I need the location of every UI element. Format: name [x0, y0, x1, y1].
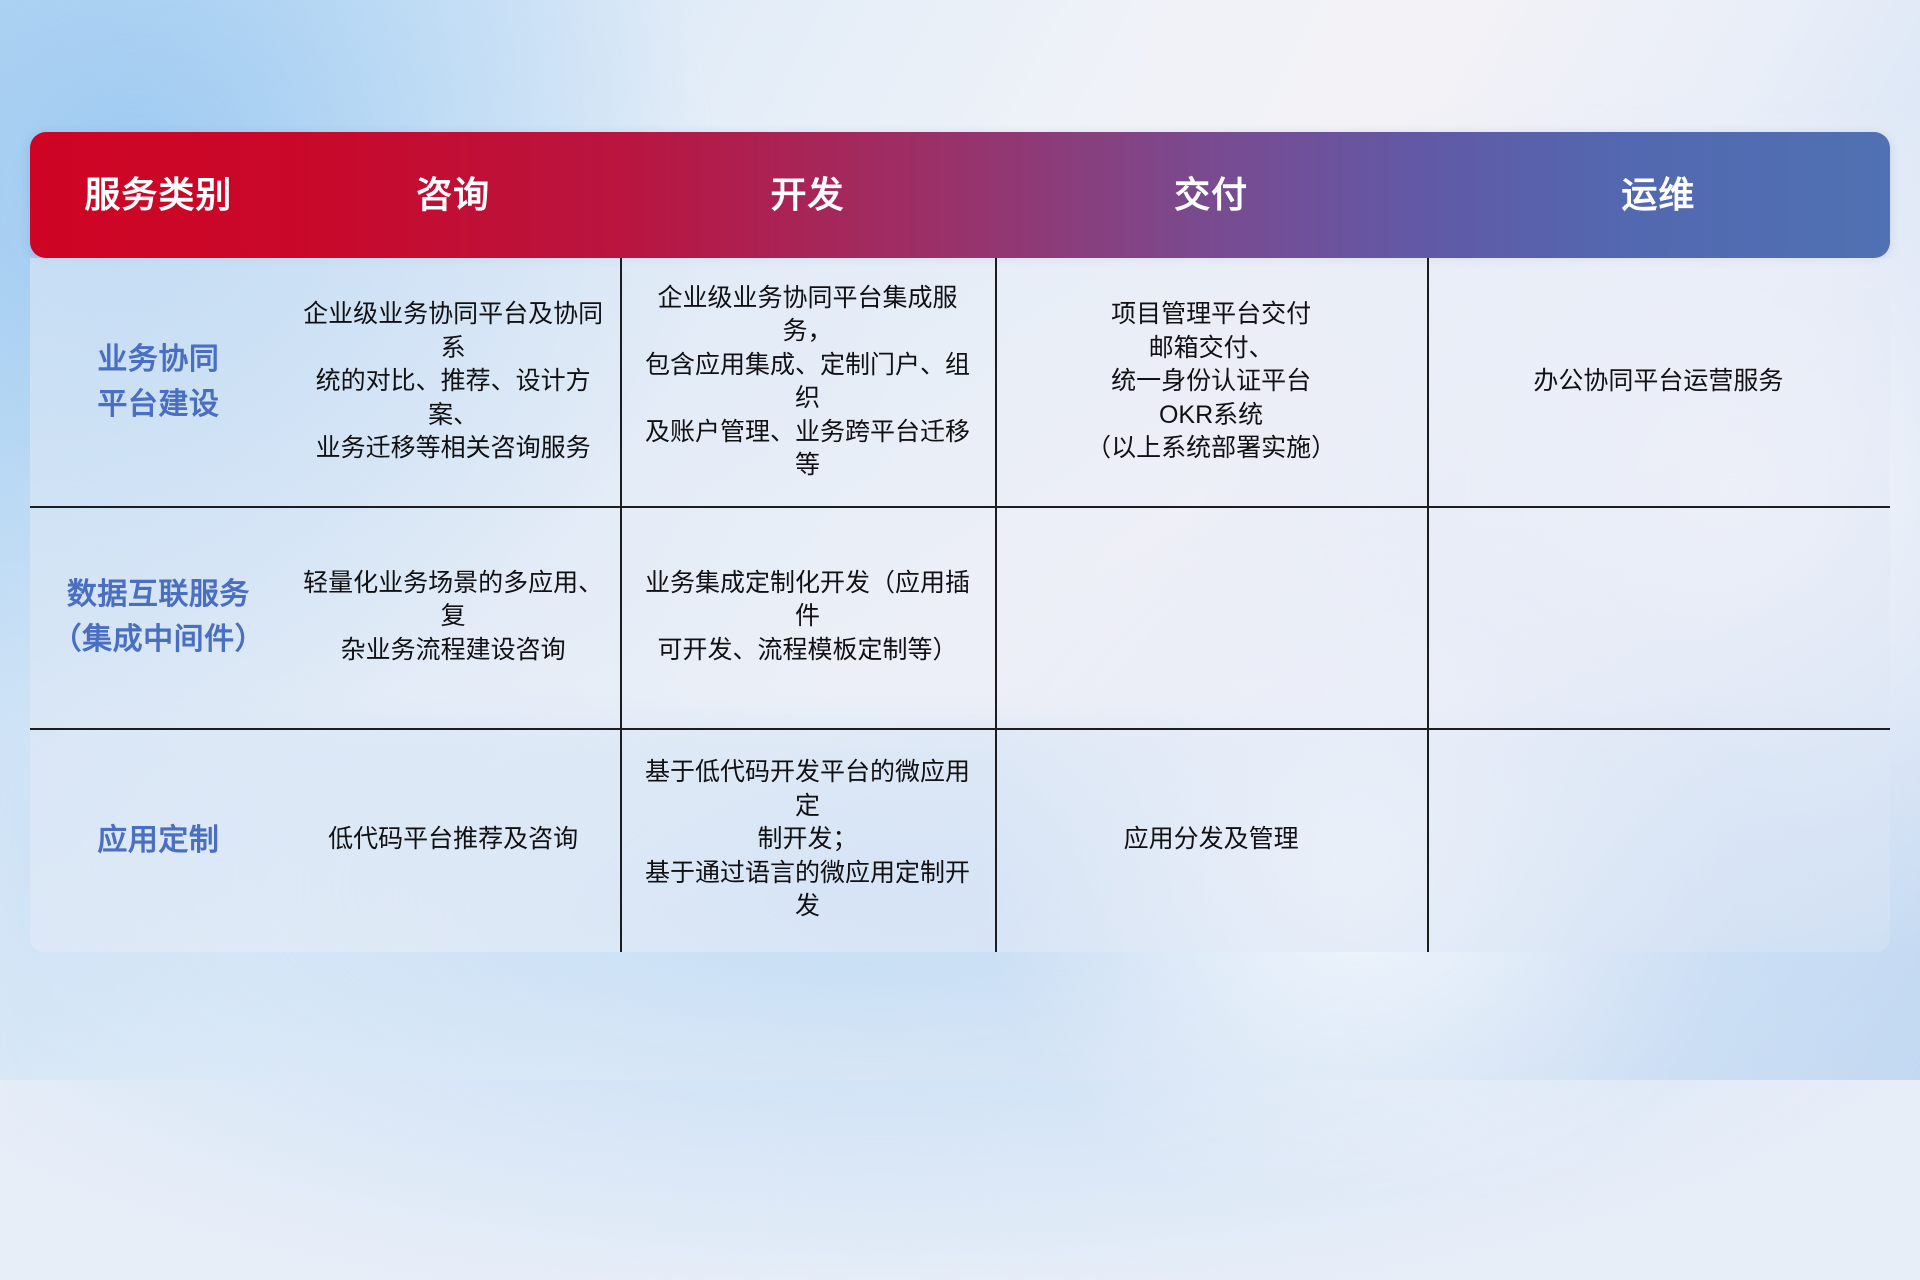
row-category-label: 数据互联服务 （集成中间件） [30, 572, 287, 662]
row-category-label: 应用定制 [30, 818, 287, 863]
column-header-deliver: 交付 [995, 177, 1427, 213]
table-header-row: 服务类别 咨询 开发 交付 运维 [30, 132, 1890, 258]
column-divider [1427, 258, 1429, 952]
column-header-develop: 开发 [620, 177, 996, 213]
row-divider [30, 728, 1890, 730]
table-row: 应用定制 低代码平台推荐及咨询 基于低代码开发平台的微应用定 制开发； 基于通过… [30, 728, 1890, 952]
cell-develop: 业务集成定制化开发（应用插件 可开发、流程模板定制等） [620, 567, 996, 668]
cell-develop: 企业级业务协同平台集成服务， 包含应用集成、定制门户、组织 及账户管理、业务跨平… [620, 282, 996, 483]
column-header-category: 服务类别 [30, 177, 287, 213]
column-divider [995, 258, 997, 952]
service-matrix-table: 服务类别 咨询 开发 交付 运维 业务协同 平台建设 企业级业务协同平台及协同系… [30, 132, 1890, 952]
column-divider [620, 258, 622, 952]
table-body: 业务协同 平台建设 企业级业务协同平台及协同系 统的对比、推荐、设计方案、 业务… [30, 258, 1890, 952]
cell-deliver: 应用分发及管理 [995, 823, 1427, 857]
cell-deliver: 项目管理平台交付 邮箱交付、 统一身份认证平台 OKR系统 （以上系统部署实施） [995, 298, 1427, 466]
row-category-label: 业务协同 平台建设 [30, 337, 287, 427]
cell-develop: 基于低代码开发平台的微应用定 制开发； 基于通过语言的微应用定制开发 [620, 756, 996, 924]
table-row: 业务协同 平台建设 企业级业务协同平台及协同系 统的对比、推荐、设计方案、 业务… [30, 258, 1890, 506]
cell-operate: 办公协同平台运营服务 [1427, 365, 1890, 399]
column-header-consult: 咨询 [287, 177, 620, 213]
cell-consult: 低代码平台推荐及咨询 [287, 823, 620, 857]
cell-consult: 轻量化业务场景的多应用、复 杂业务流程建设咨询 [287, 567, 620, 668]
table-row: 数据互联服务 （集成中间件） 轻量化业务场景的多应用、复 杂业务流程建设咨询 业… [30, 506, 1890, 728]
cell-consult: 企业级业务协同平台及协同系 统的对比、推荐、设计方案、 业务迁移等相关咨询服务 [287, 298, 620, 466]
column-header-operate: 运维 [1427, 177, 1890, 213]
row-divider [30, 506, 1890, 508]
